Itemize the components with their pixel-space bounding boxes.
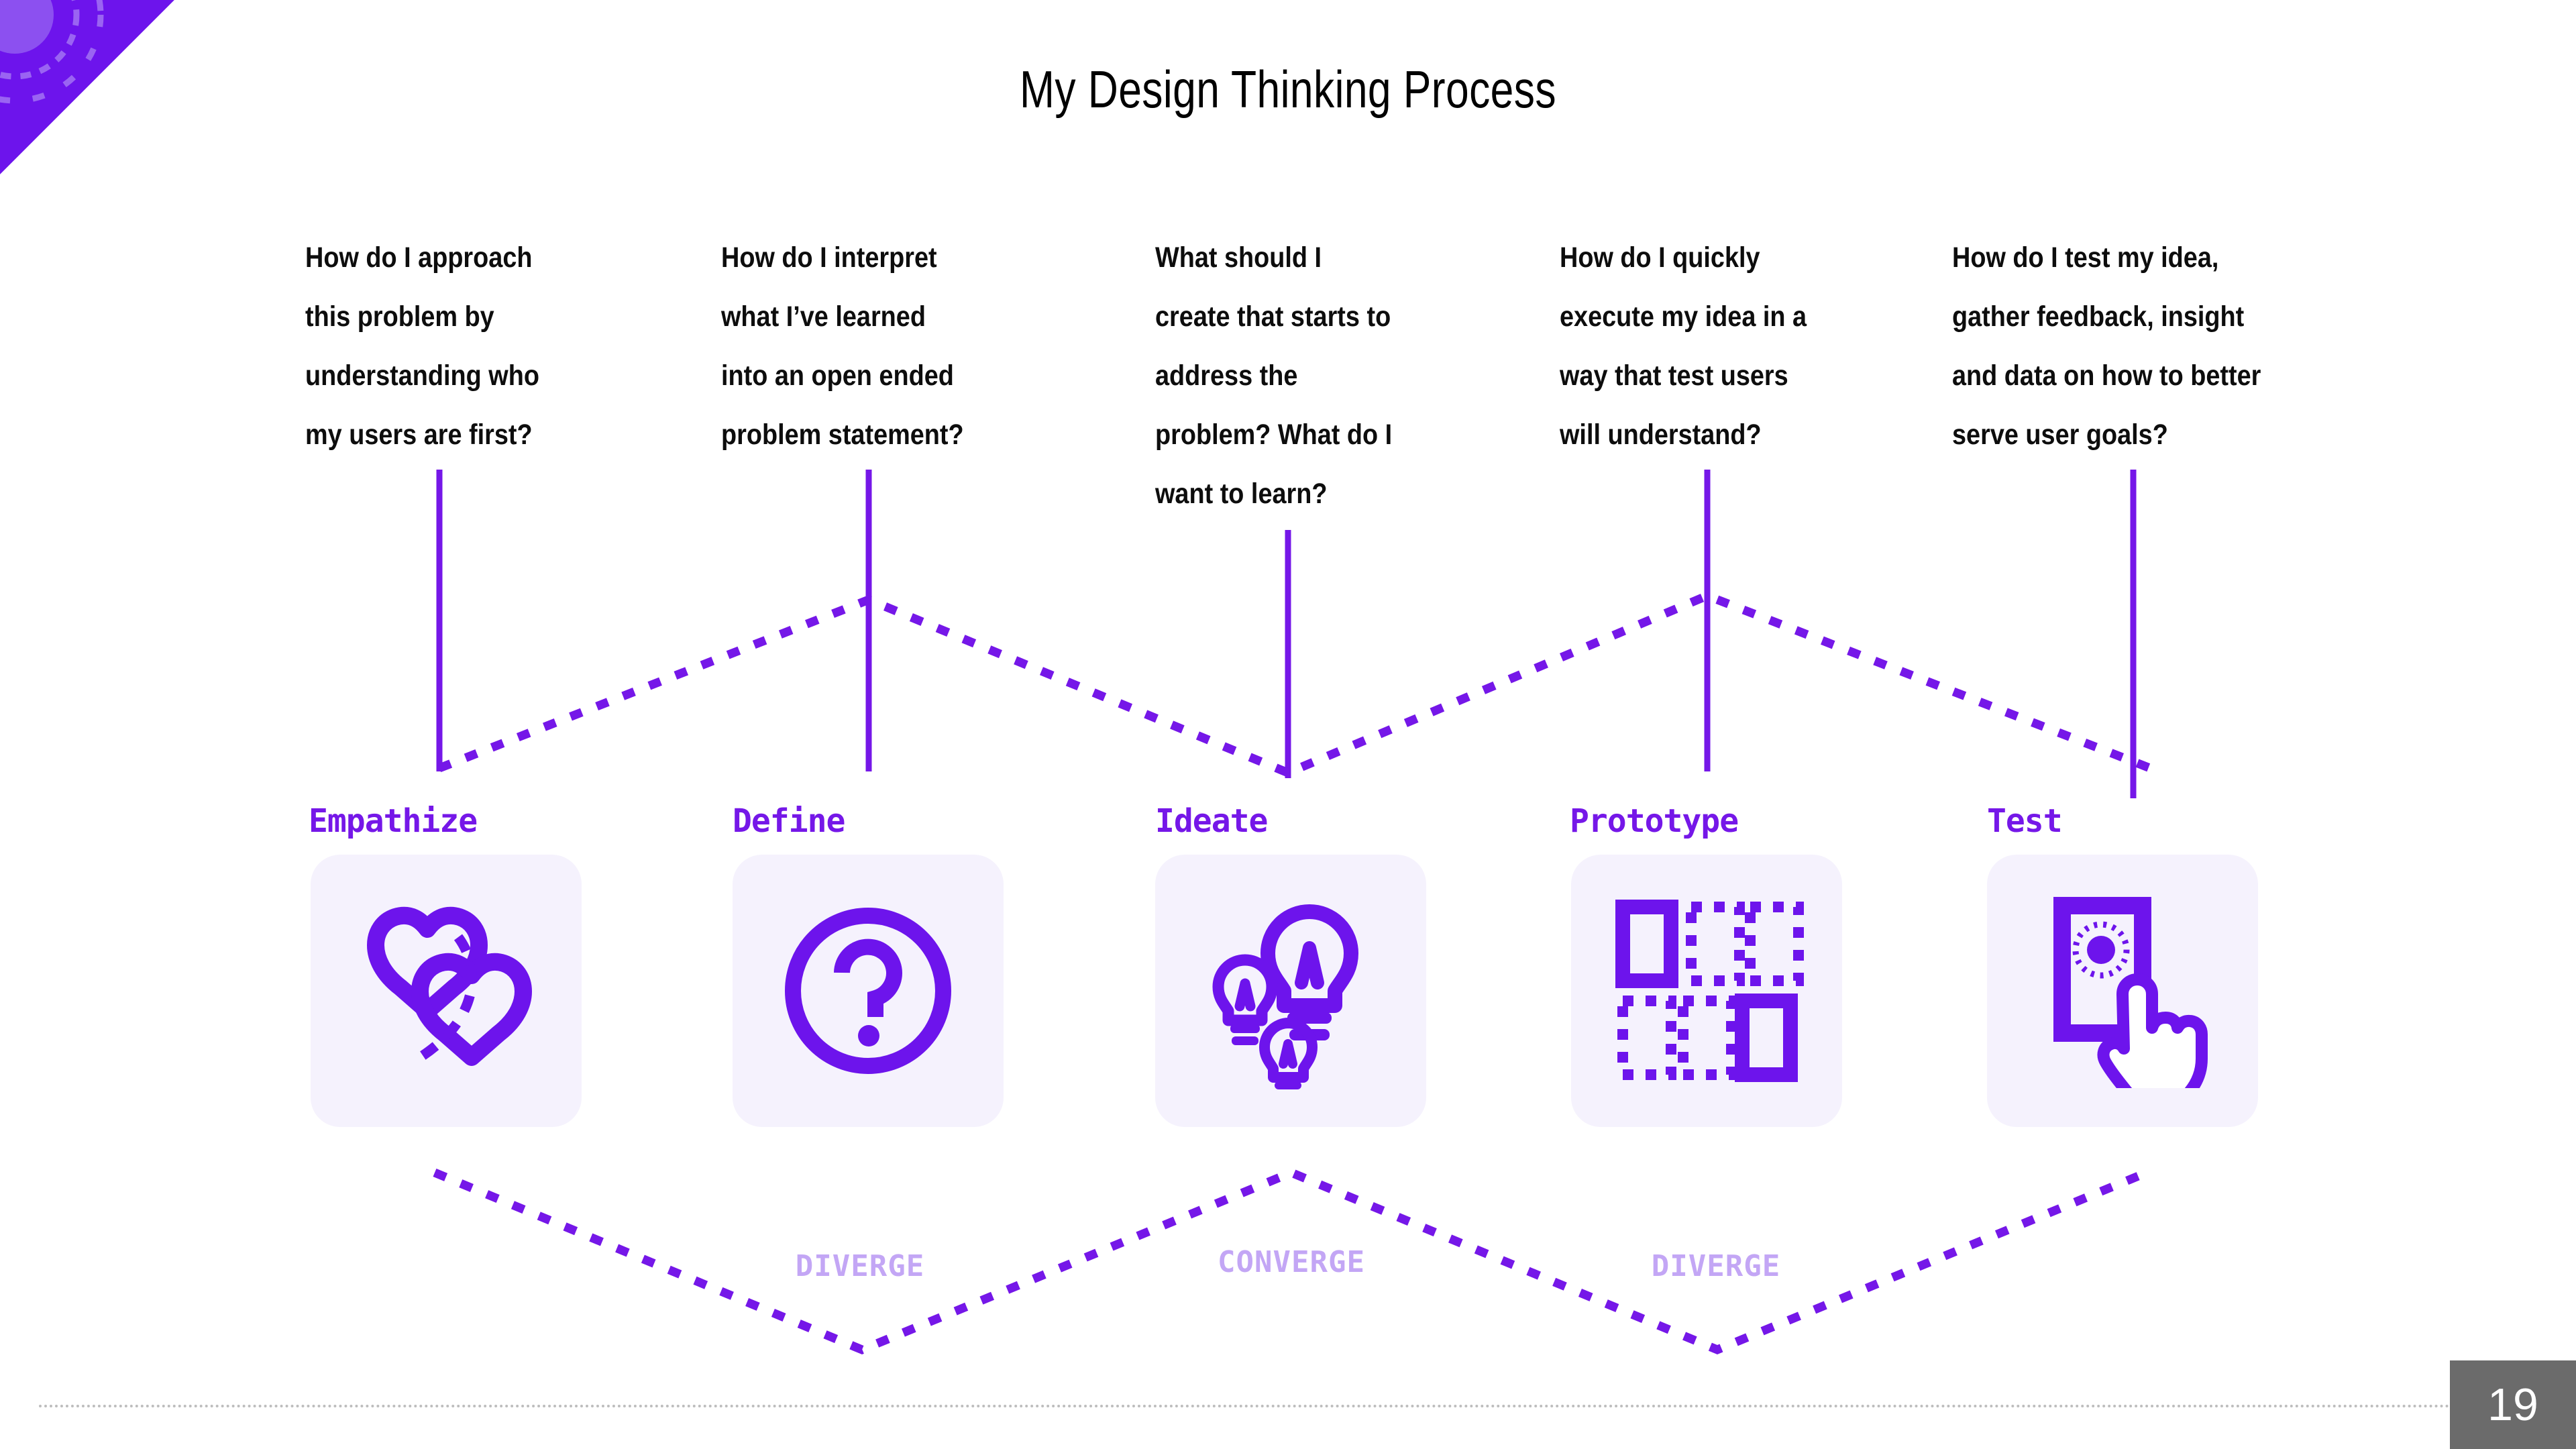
two-hearts-icon (345, 890, 547, 1091)
wireframe-grid-icon (1609, 894, 1804, 1088)
wireframe-block-solid-br (1742, 1001, 1790, 1075)
question-text-define: How do I interpret what I’ve learned int… (721, 228, 969, 464)
stage-label-ideate: Ideate (1155, 802, 1267, 840)
corner-triangle (0, 0, 174, 174)
tap-screen-icon (2029, 894, 2216, 1088)
footer-divider (39, 1405, 2521, 1407)
wireframe-block-solid-tl (1623, 907, 1671, 981)
flow-label-diverge-1: DIVERGE (796, 1249, 924, 1283)
stage-label-empathize: Empathize (309, 802, 477, 840)
icon-card-prototype[interactable] (1571, 855, 1842, 1127)
question-text-prototype: How do I quickly execute my idea in a wa… (1560, 228, 1819, 464)
corner-dashed-arc-outer (0, 0, 101, 101)
flow-label-converge: CONVERGE (1218, 1245, 1365, 1279)
upper-zigzag-path (439, 596, 2150, 773)
icon-card-define[interactable] (733, 855, 1004, 1127)
icon-card-test[interactable] (1987, 855, 2258, 1127)
stage-label-test: Test (1987, 802, 2062, 840)
stage-label-prototype: Prototype (1570, 802, 1738, 840)
question-text-empathize: How do I approach this problem by unders… (305, 228, 559, 464)
stage-label-define: Define (733, 802, 845, 840)
page-title: My Design Thinking Process (258, 59, 2318, 120)
pointing-hand (2104, 979, 2202, 1088)
question-text-test: How do I test my idea, gather feedback, … (1952, 228, 2271, 464)
page-badge: 19 (2450, 1360, 2576, 1449)
corner-decoration (0, 0, 174, 174)
page-number: 19 (2487, 1379, 2538, 1431)
question-text-ideate: What should I create that starts to addr… (1155, 228, 1403, 523)
question-circle-icon (777, 900, 959, 1081)
flow-label-diverge-2: DIVERGE (1652, 1249, 1780, 1283)
connector-lines (0, 0, 2576, 1449)
lightbulb-small (1265, 1023, 1312, 1089)
lightbulbs-icon (1190, 890, 1391, 1091)
icon-card-ideate[interactable] (1155, 855, 1426, 1127)
tap-target-dot (2087, 936, 2115, 964)
corner-dashed-arc-inner (0, 0, 76, 76)
corner-decoration-graphic (0, 0, 174, 174)
icon-card-empathize[interactable] (311, 855, 582, 1127)
corner-circle (0, 0, 54, 54)
